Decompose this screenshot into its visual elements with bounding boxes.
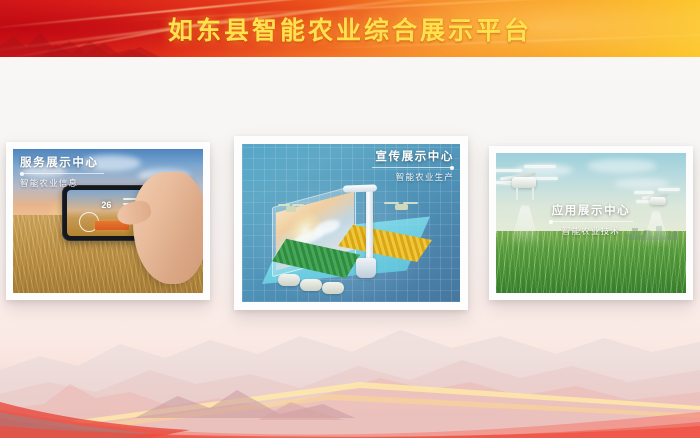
hay-bale — [278, 274, 300, 286]
card-service-subtitle: 智能农业信息 — [20, 177, 104, 189]
drone-large — [496, 163, 564, 203]
caption-divider — [372, 167, 454, 168]
drone-rotor — [658, 188, 680, 191]
drone-rotor — [634, 191, 654, 194]
drone-body — [395, 204, 408, 210]
card-service-display-center[interactable]: 26 服务展示中心 智能农业信息 — [6, 142, 210, 300]
rock-peaks-decoration — [0, 384, 260, 424]
cloud — [587, 159, 657, 173]
header-banner: 如东县智能农业综合展示平台 — [0, 0, 700, 57]
card-service-title: 服务展示中心 — [20, 154, 104, 170]
drone-body — [512, 177, 536, 188]
caption-divider — [20, 173, 104, 174]
card-application-display-center[interactable]: 应用展示中心 智能农业技术 — [489, 146, 693, 300]
hay-bale — [322, 282, 344, 294]
drone-rotor — [496, 169, 522, 172]
drone-small — [278, 204, 304, 213]
card-publicity-subtitle: 智能农业生产 — [372, 171, 454, 183]
caption-divider — [549, 221, 633, 222]
drone-large — [384, 202, 418, 211]
drone-leg — [516, 188, 518, 200]
card-application-caption: 应用展示中心 智能农业技术 — [489, 202, 693, 237]
card-service-caption: 服务展示中心 智能农业信息 — [20, 154, 104, 189]
card-application-title: 应用展示中心 — [489, 202, 693, 218]
drone-body — [286, 206, 296, 212]
page-title: 如东县智能农业综合展示平台 — [0, 0, 700, 57]
hay-bale — [300, 279, 322, 291]
card-application-subtitle: 智能农业技术 — [489, 225, 693, 237]
drone-rotor — [524, 165, 556, 168]
pole-arm — [343, 184, 377, 192]
platform-landing-page: 如东县智能农业综合展示平台 26 — [0, 0, 700, 438]
card-publicity-title: 宣传展示中心 — [372, 148, 454, 164]
drone-leg — [532, 188, 534, 200]
hud-temperature-value: 26 — [101, 200, 111, 210]
card-publicity-caption: 宣传展示中心 智能农业生产 — [372, 148, 454, 183]
water-tank — [356, 258, 376, 278]
card-publicity-display-center[interactable]: 宣传展示中心 智能农业生产 — [234, 136, 468, 310]
